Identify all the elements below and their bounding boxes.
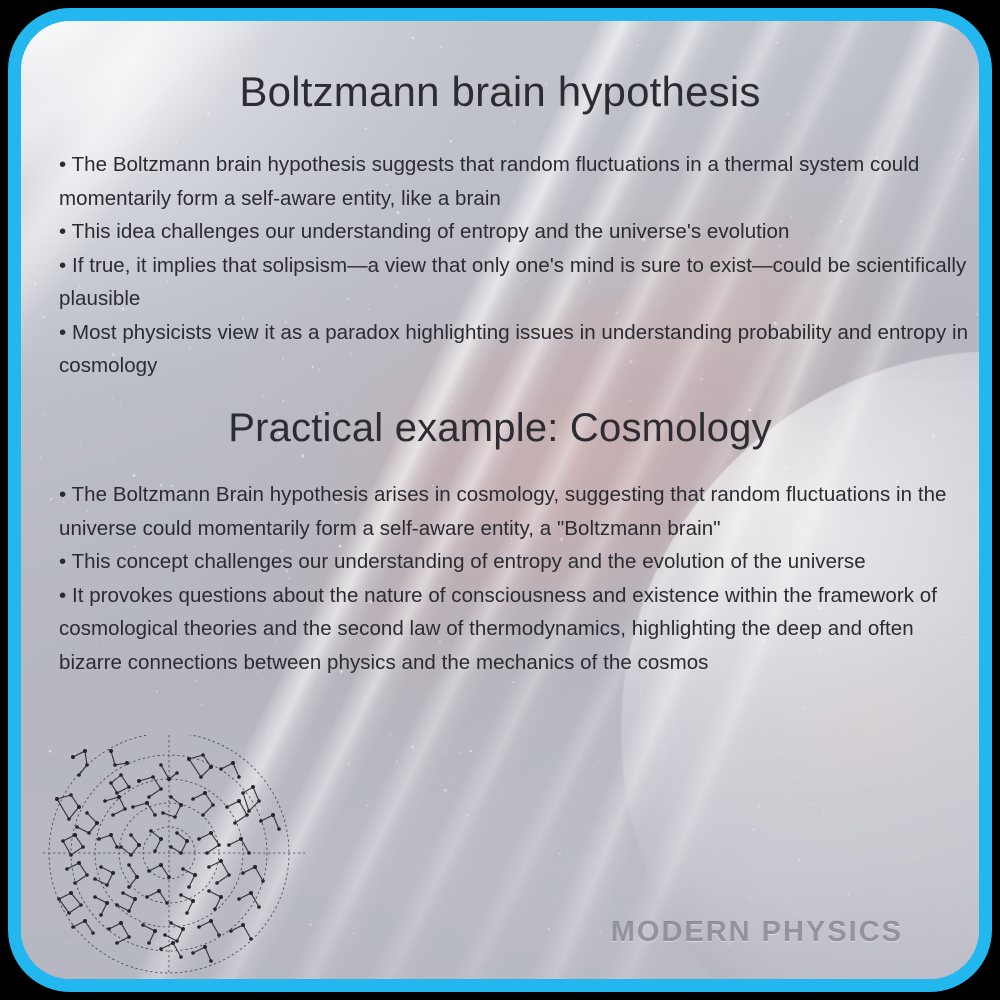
section-heading-practical-example: Practical example: Cosmology — [21, 406, 979, 451]
bullet-item: • Most physicists view it as a paradox h… — [59, 316, 979, 383]
bullet-list-cosmology: • The Boltzmann Brain hypothesis arises … — [59, 478, 979, 679]
bullet-item: • It provokes questions about the nature… — [59, 579, 979, 680]
page-title: Boltzmann brain hypothesis — [21, 68, 979, 115]
constellation-star-chart — [43, 735, 305, 975]
bullet-item: • If true, it implies that solipsism—a v… — [59, 249, 979, 316]
bullet-item: • This idea challenges our understanding… — [59, 215, 979, 249]
bullet-item: • The Boltzmann Brain hypothesis arises … — [59, 478, 979, 545]
slide-content: Boltzmann brain hypothesis • The Boltzma… — [21, 21, 979, 979]
bullet-item: • This concept challenges our understand… — [59, 545, 979, 579]
bullet-list-overview: • The Boltzmann brain hypothesis suggest… — [59, 148, 979, 383]
bullet-item: • The Boltzmann brain hypothesis suggest… — [59, 148, 979, 215]
watermark-modern-physics: MODERN PHYSICS — [611, 916, 903, 949]
slide-frame: Boltzmann brain hypothesis • The Boltzma… — [8, 8, 992, 992]
